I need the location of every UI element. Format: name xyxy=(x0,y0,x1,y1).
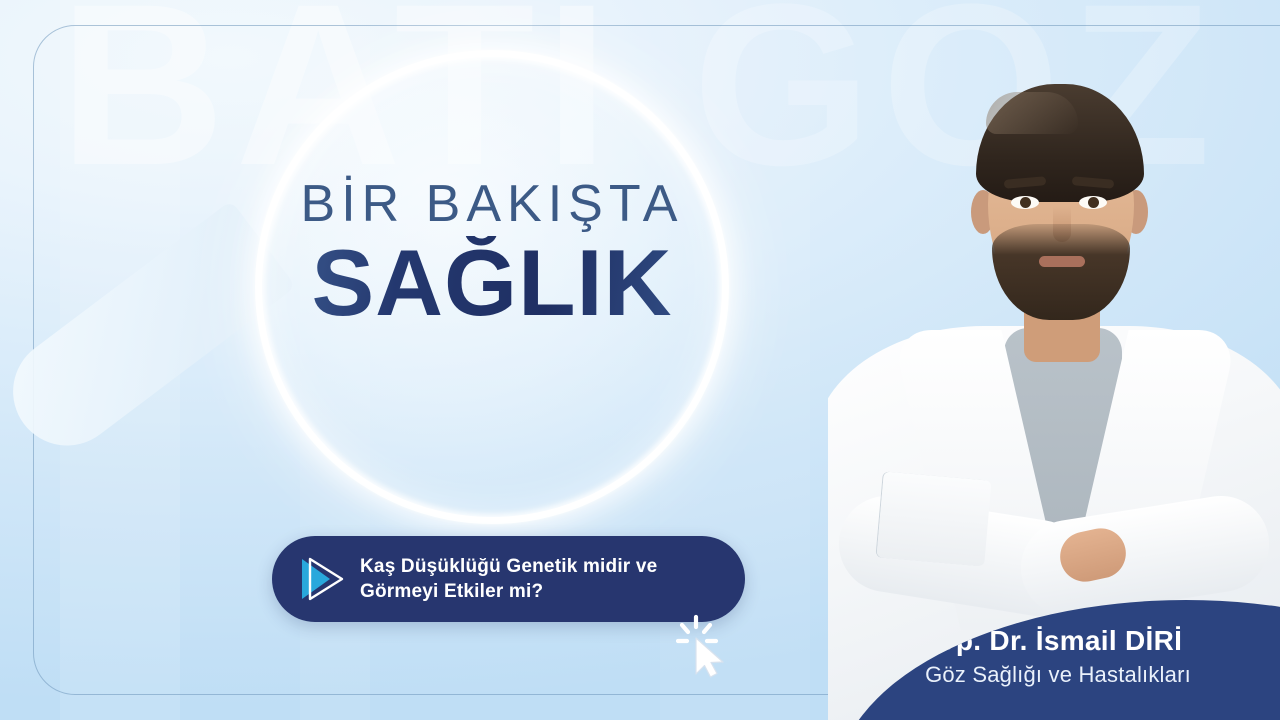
video-topic-label: Kaş Düşüklüğü Genetik midir ve Görmeyi E… xyxy=(360,554,657,604)
beard xyxy=(992,224,1130,320)
play-triangle-icon xyxy=(300,555,346,603)
video-thumbnail-stage: BATI GÖZ BİR BAKIŞTA SAĞLIK xyxy=(0,0,1280,720)
title-top-line: BİR BAKIŞTA xyxy=(262,178,722,230)
click-cursor-icon xyxy=(676,612,738,678)
coat-pocket xyxy=(876,471,991,566)
page-title: BİR BAKIŞTA SAĞLIK xyxy=(262,178,722,330)
presenter-specialty: Göz Sağlığı ve Hastalıkları xyxy=(836,662,1280,688)
eye-left xyxy=(1011,196,1039,209)
video-topic-line2: Görmeyi Etkiler mi? xyxy=(360,579,657,604)
mouth xyxy=(1039,256,1085,267)
eye-right xyxy=(1079,196,1107,209)
presenter-name: Op. Dr. İsmail DİRİ xyxy=(836,626,1280,657)
video-topic-button[interactable]: Kaş Düşüklüğü Genetik midir ve Görmeyi E… xyxy=(272,536,745,622)
title-main-line: SAĞLIK xyxy=(262,236,722,330)
video-topic-line1: Kaş Düşüklüğü Genetik midir ve xyxy=(360,554,657,579)
hair xyxy=(976,84,1144,202)
